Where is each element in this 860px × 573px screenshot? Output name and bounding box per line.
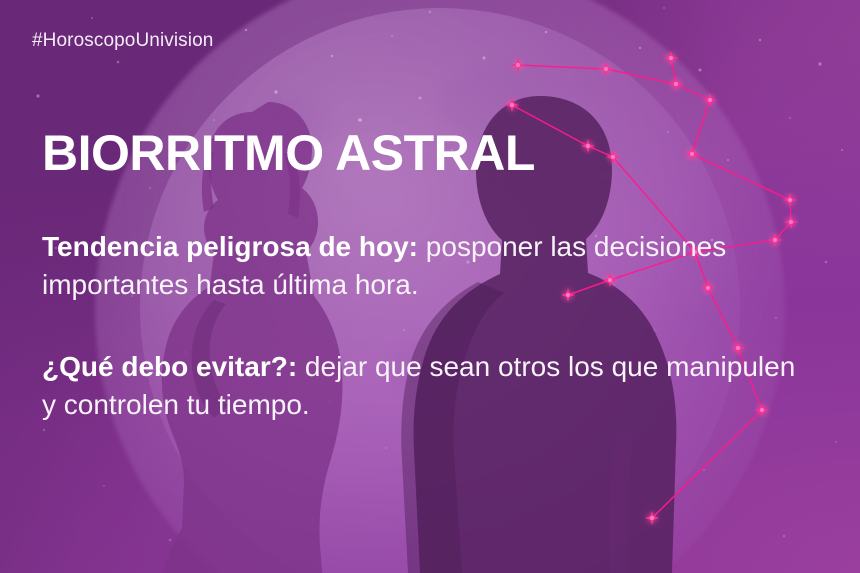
paragraph-evitar-label: ¿Qué debo evitar?: [42,351,297,382]
paragraph-tendencia-label: Tendencia peligrosa de hoy: [42,231,418,262]
paragraph-tendencia: Tendencia peligrosa de hoy: posponer las… [42,228,802,304]
horoscope-card: #HoroscopoUnivision BIORRITMO ASTRAL Ten… [0,0,860,573]
text-content: #HoroscopoUnivision BIORRITMO ASTRAL Ten… [0,0,860,573]
paragraph-evitar: ¿Qué debo evitar?: dejar que sean otros … [42,348,802,424]
hashtag-label: #HoroscopoUnivision [32,30,213,52]
page-title: BIORRITMO ASTRAL [42,127,535,179]
